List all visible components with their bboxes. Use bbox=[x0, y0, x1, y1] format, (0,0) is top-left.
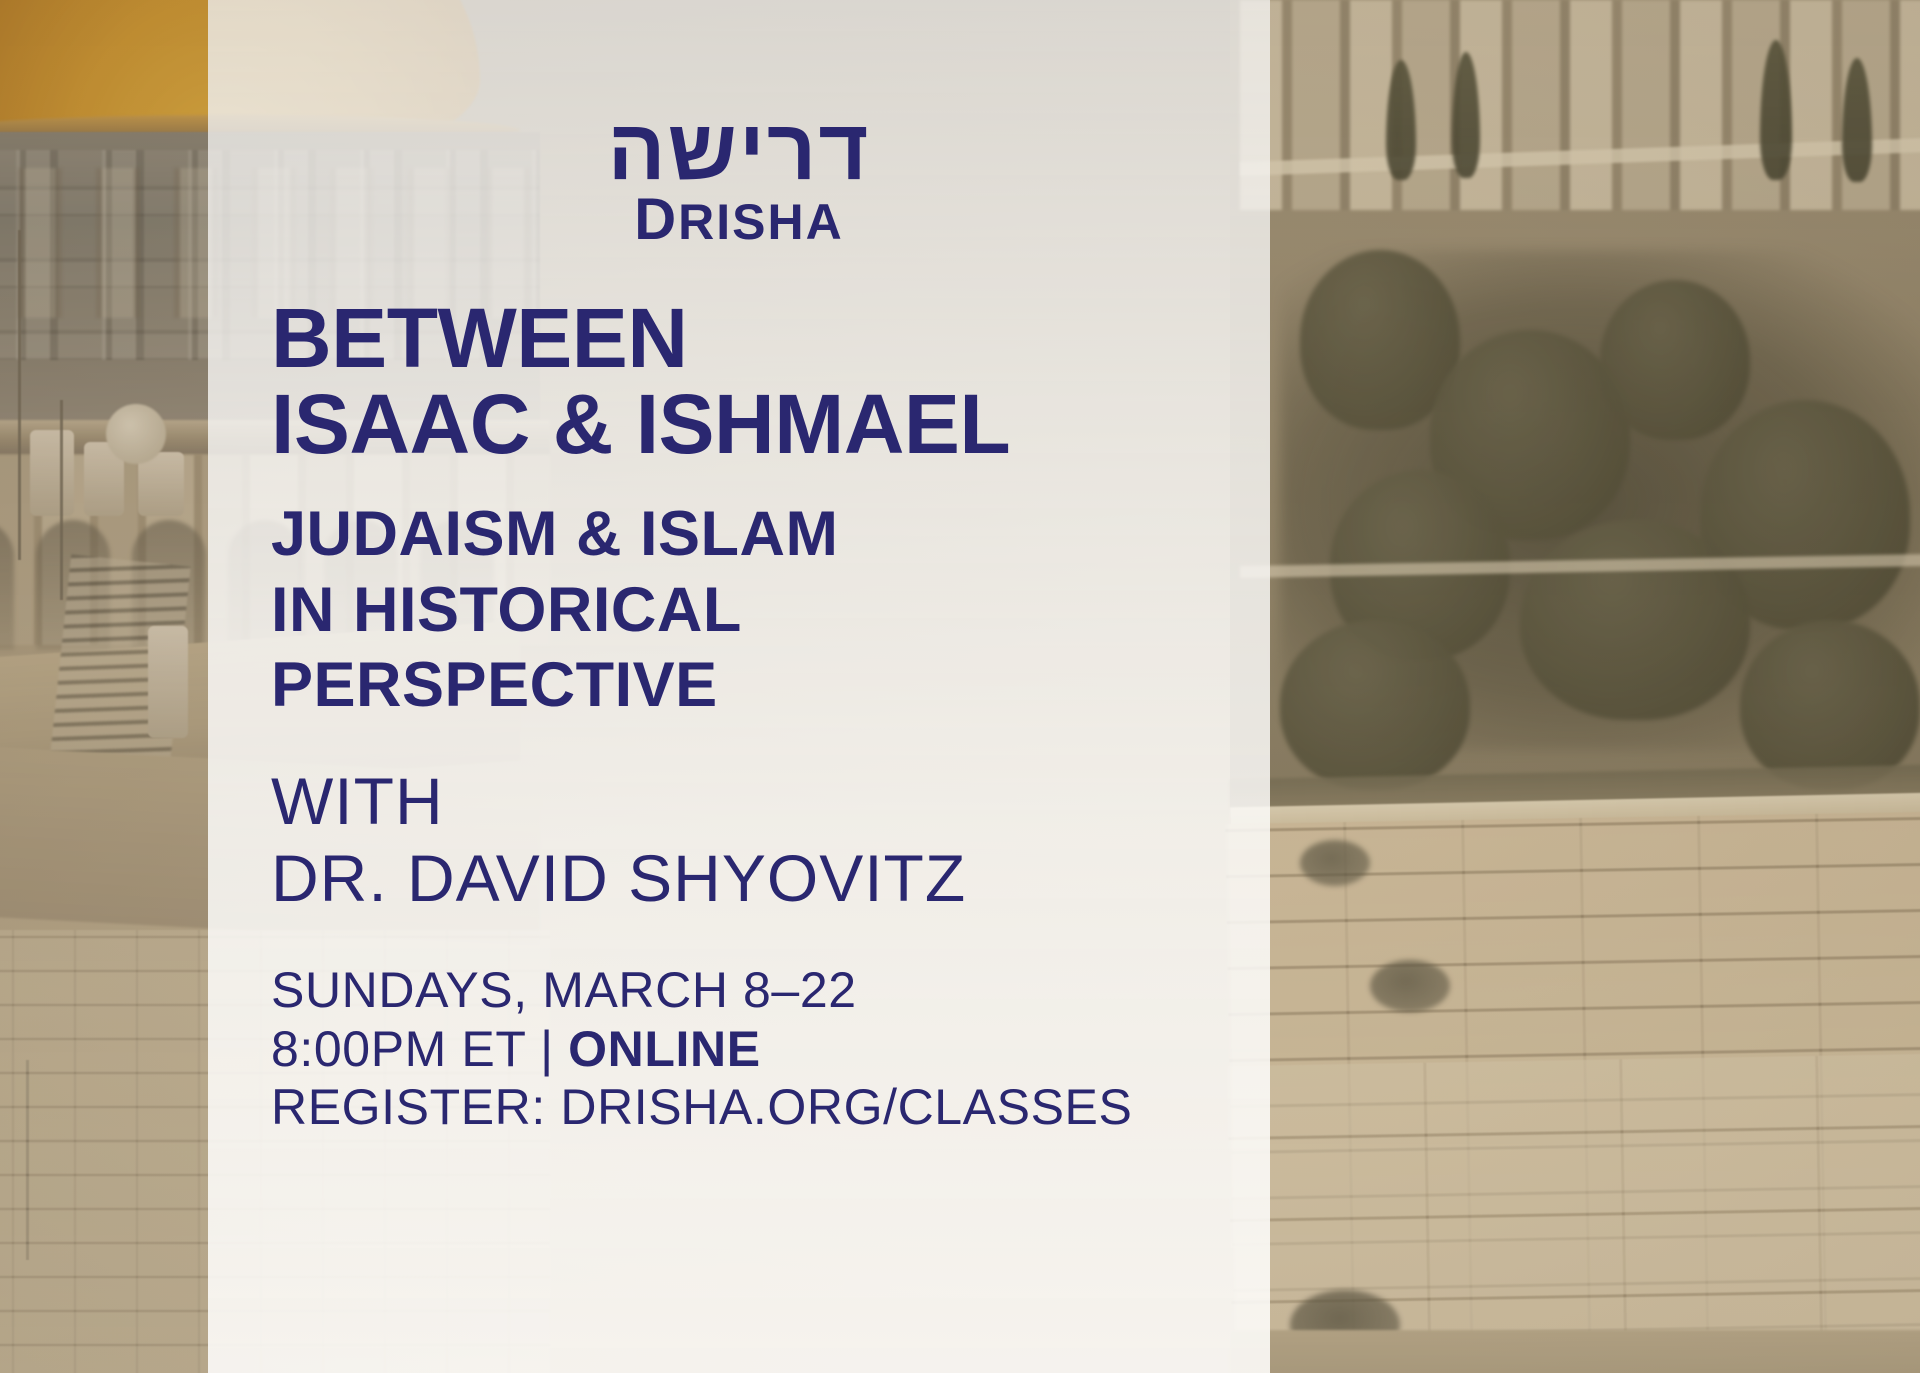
title-line-1: BETWEEN bbox=[271, 296, 1271, 382]
event-time: 8:00PM ET | bbox=[271, 1021, 568, 1077]
drisha-logo: דרישה DRISHA bbox=[208, 112, 1270, 249]
drisha-logo-initial: D bbox=[634, 187, 678, 252]
event-dates: SUNDAYS, MARCH 8–22 bbox=[271, 961, 1271, 1020]
speaker-name: DR. DAVID SHYOVITZ bbox=[271, 840, 1271, 917]
title-line-2: ISAAC & ISHMAEL bbox=[271, 382, 1271, 468]
poster-content: דרישה DRISHA BETWEEN ISAAC & ISHMAEL JUD… bbox=[208, 0, 1270, 1373]
drisha-logo-english: DRISHA bbox=[208, 191, 1270, 249]
event-poster: דרישה DRISHA BETWEEN ISAAC & ISHMAEL JUD… bbox=[0, 0, 1920, 1373]
subtitle-line-3: PERSPECTIVE bbox=[271, 648, 1271, 724]
poster-title: BETWEEN ISAAC & ISHMAEL bbox=[271, 296, 1271, 467]
event-time-and-format: 8:00PM ET | ONLINE bbox=[271, 1020, 1271, 1079]
event-format-badge: ONLINE bbox=[568, 1021, 761, 1077]
poster-subtitle: JUDAISM & ISLAM IN HISTORICAL PERSPECTIV… bbox=[271, 497, 1271, 724]
subtitle-line-1: JUDAISM & ISLAM bbox=[271, 497, 1271, 573]
speaker-block: WITH DR. DAVID SHYOVITZ bbox=[271, 763, 1271, 917]
event-details: SUNDAYS, MARCH 8–22 8:00PM ET | ONLINE R… bbox=[271, 961, 1271, 1137]
drisha-logo-hebrew: דרישה bbox=[208, 112, 1270, 189]
drisha-logo-remainder: RISHA bbox=[678, 194, 844, 250]
registration-link[interactable]: REGISTER: DRISHA.ORG/CLASSES bbox=[271, 1078, 1271, 1137]
subtitle-line-2: IN HISTORICAL bbox=[271, 573, 1271, 649]
speaker-with-label: WITH bbox=[271, 763, 1271, 840]
